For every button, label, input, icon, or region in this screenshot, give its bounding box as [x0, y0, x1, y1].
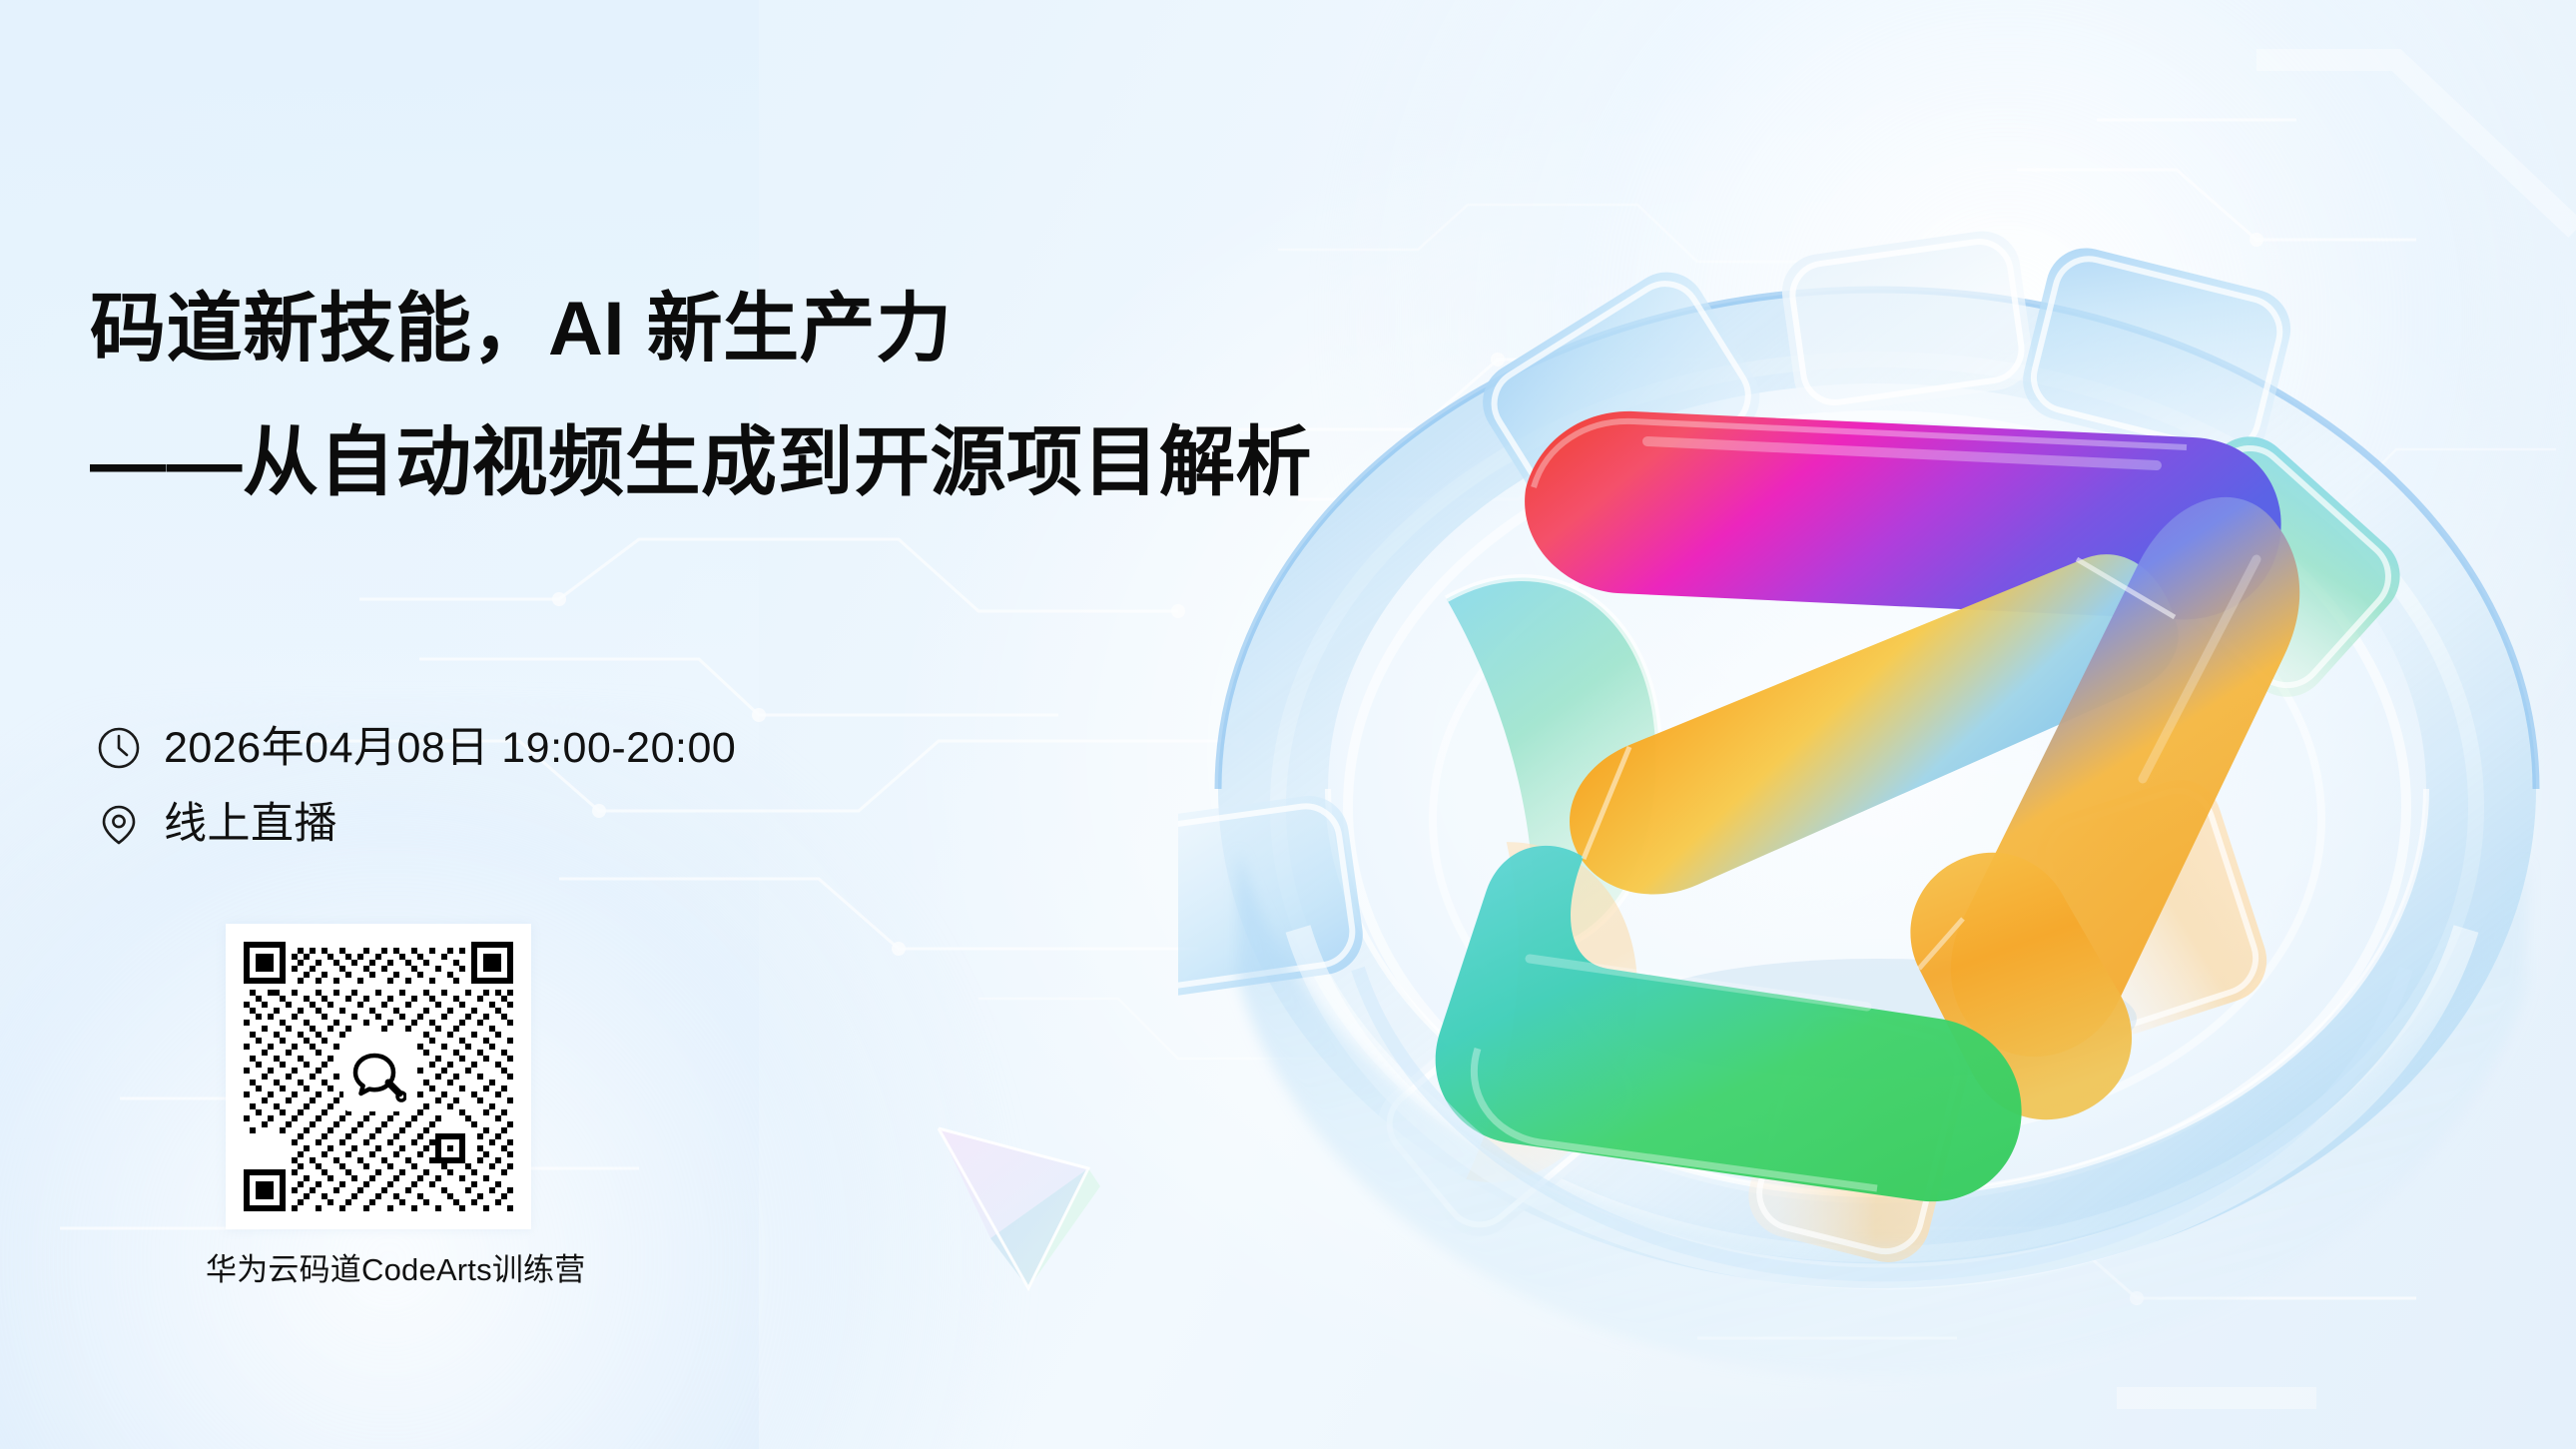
qr-block: 华为云码道CodeArts训练营 — [226, 924, 531, 1288]
3d-glass-ribbon-graphic — [1178, 90, 2576, 1428]
event-datetime-row: 2026年04月08日 19:00-20:00 — [96, 717, 994, 779]
event-location-row: 线上直播 — [96, 793, 994, 855]
qr-caption: 华为云码道CodeArts训练营 — [206, 1251, 511, 1288]
clock-icon — [96, 725, 142, 771]
event-location-text: 线上直播 — [164, 803, 337, 846]
location-pin-icon — [96, 801, 142, 847]
event-datetime-text: 2026年04月08日 19:00-20:00 — [164, 727, 736, 770]
event-meta: 2026年04月08日 19:00-20:00 线上直播 — [96, 717, 994, 869]
webinar-promo-banner: 码道新技能，AI 新生产力 ——从自动视频生成到开源项目解析 2026年04月0… — [0, 0, 2576, 1449]
content-column: 码道新技能，AI 新生产力 ——从自动视频生成到开源项目解析 2026年04月0… — [0, 0, 1098, 1449]
headline-line-2: ——从自动视频生成到开源项目解析 — [90, 425, 1068, 501]
chat-bubble-icon — [343, 1042, 413, 1111]
headline-line-1: 码道新技能，AI 新生产力 — [90, 292, 1068, 367]
page-title: 码道新技能，AI 新生产力 ——从自动视频生成到开源项目解析 — [90, 292, 1068, 501]
qr-code[interactable] — [226, 924, 531, 1229]
